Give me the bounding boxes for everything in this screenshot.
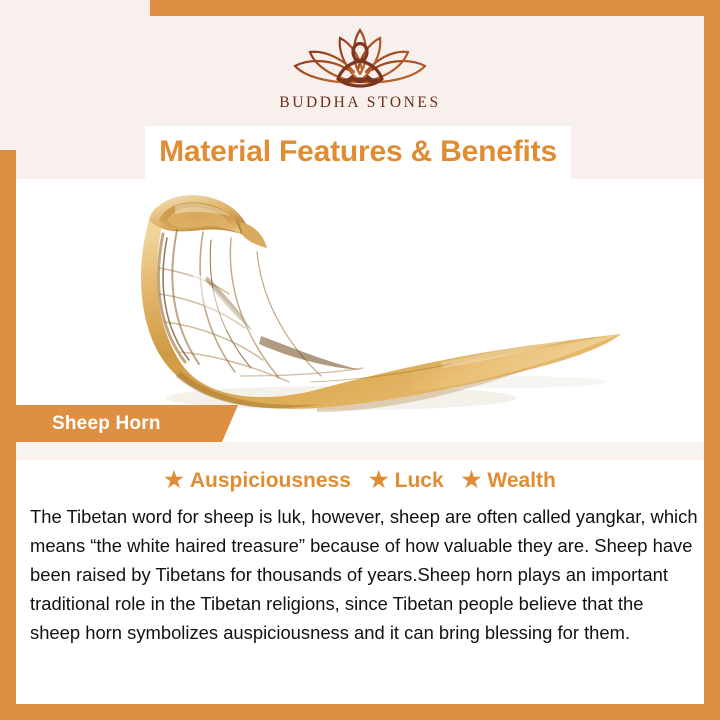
divider-strip bbox=[16, 442, 704, 460]
benefit-label: Luck bbox=[395, 469, 444, 493]
frame-border-bottom bbox=[0, 704, 720, 720]
sheep-horn-photo bbox=[111, 179, 631, 426]
frame-border-right bbox=[704, 0, 720, 720]
description-text: The Tibetan word for sheep is luk, howev… bbox=[30, 502, 698, 647]
product-label-text: Sheep Horn bbox=[52, 405, 161, 442]
title-band: Material Features & Benefits bbox=[145, 126, 571, 179]
infographic-page: BUDDHA STONES bbox=[0, 0, 720, 720]
benefit-item-auspiciousness: ★ Auspiciousness bbox=[164, 469, 351, 493]
product-label-banner: Sheep Horn bbox=[0, 405, 240, 442]
page-title: Material Features & Benefits bbox=[159, 137, 557, 167]
brand-logo: BUDDHA STONES bbox=[0, 22, 720, 122]
brand-name: BUDDHA STONES bbox=[279, 94, 440, 112]
benefit-item-luck: ★ Luck bbox=[369, 469, 444, 493]
lotus-meditation-icon bbox=[276, 22, 444, 92]
star-icon: ★ bbox=[462, 469, 482, 491]
frame-corner-cream-left bbox=[0, 0, 17, 150]
star-icon: ★ bbox=[164, 469, 184, 491]
benefit-item-wealth: ★ Wealth bbox=[462, 469, 556, 493]
star-icon: ★ bbox=[369, 469, 389, 491]
benefit-label: Wealth bbox=[487, 469, 555, 493]
description-section: ★ Auspiciousness ★ Luck ★ Wealth The Tib… bbox=[16, 460, 704, 704]
benefits-row: ★ Auspiciousness ★ Luck ★ Wealth bbox=[16, 469, 704, 493]
frame-corner-cream-top bbox=[0, 0, 150, 17]
benefit-label: Auspiciousness bbox=[190, 469, 351, 493]
